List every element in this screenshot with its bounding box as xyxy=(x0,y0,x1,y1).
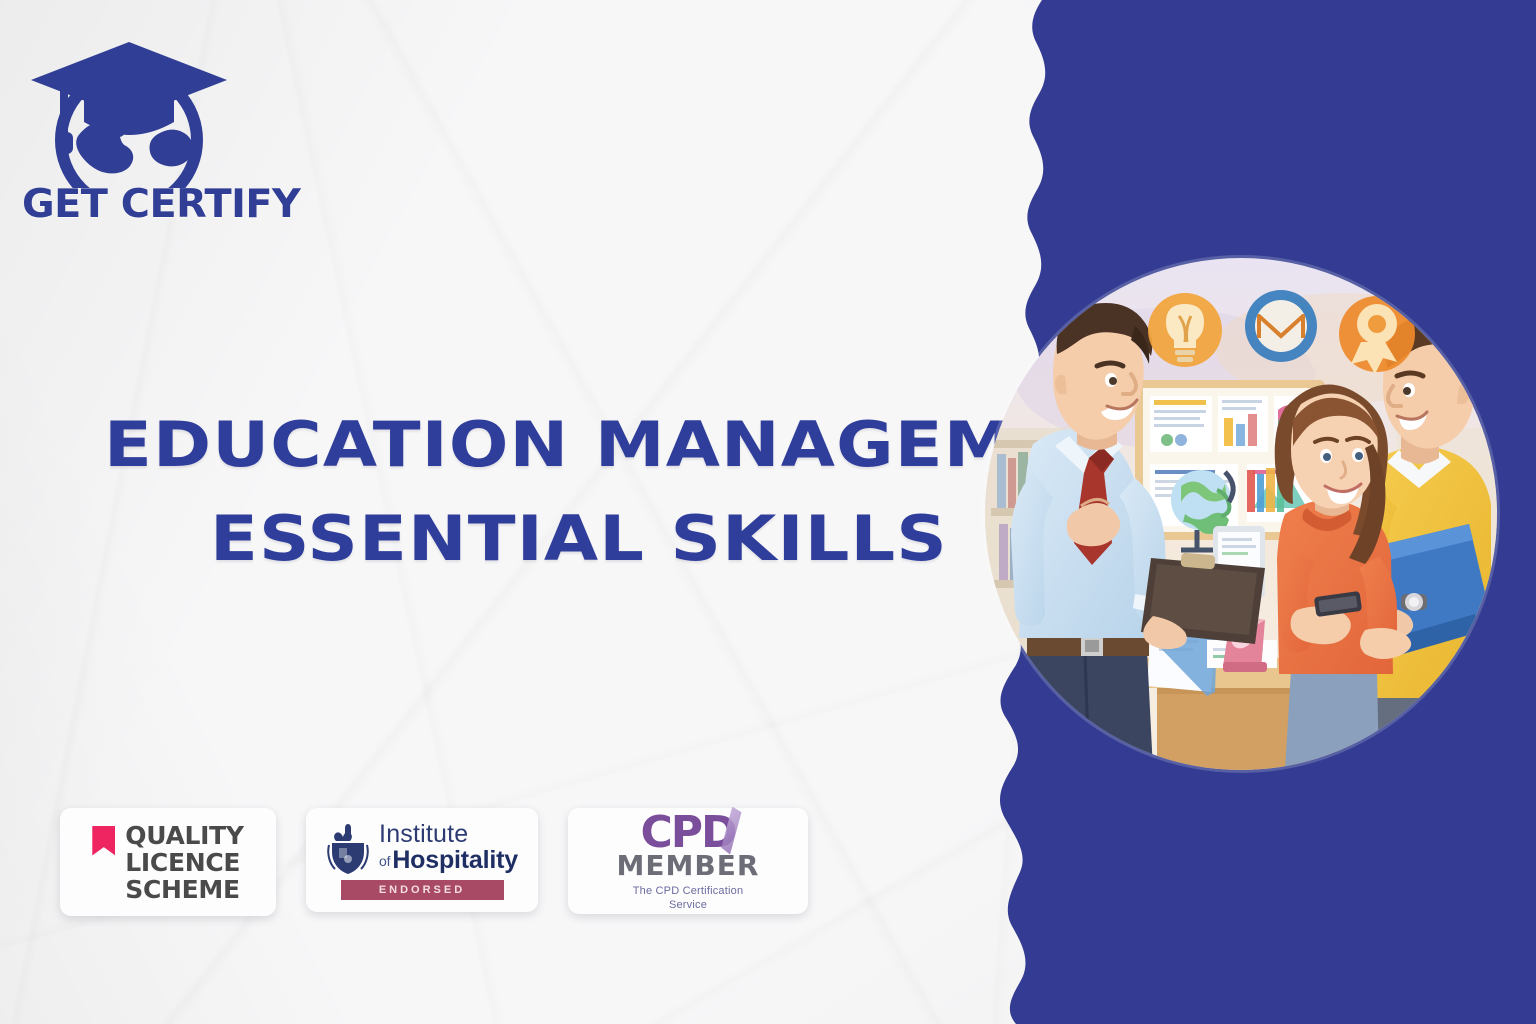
qls-line-3: SCHEME xyxy=(125,876,243,903)
qls-line-1: QUALITY xyxy=(125,822,243,849)
heraldic-crest-icon xyxy=(326,821,370,875)
accreditation-badges: QUALITY LICENCE SCHEME xyxy=(60,808,808,916)
ioh-line-2: Hospitality xyxy=(392,846,518,874)
cpd-subtitle-line-1: The CPD Certification xyxy=(633,884,744,898)
badge-institute-of-hospitality[interactable]: Institute ofHospitality ENDORSED xyxy=(306,808,538,912)
bookmark-icon xyxy=(92,826,115,856)
headline-line-2: ESSENTIAL SKILLS xyxy=(210,492,949,586)
promo-banner: GET CERTIFY EDUCATION MANAGEMENT ESSENTI… xyxy=(0,0,1536,1024)
floating-icons xyxy=(1148,290,1415,374)
badge-cpd-member[interactable]: CPD MEMBER The CPD Certification Service xyxy=(568,808,808,914)
headline: EDUCATION MANAGEMENT ESSENTIAL SKILLS xyxy=(104,398,864,586)
logo-wordmark: GET CERTIFY xyxy=(22,182,241,227)
qls-line-2: LICENCE xyxy=(125,849,243,876)
cpd-subtitle-line-2: Service xyxy=(633,898,744,912)
graduation-cap-globe-icon xyxy=(22,28,237,188)
ioh-line-1: Institute xyxy=(379,822,518,847)
ioh-of: of xyxy=(379,853,390,869)
education-meeting-illustration xyxy=(985,258,1497,770)
headline-line-1: EDUCATION MANAGEMENT xyxy=(104,398,963,492)
cpd-letters: CPD xyxy=(640,811,735,855)
ioh-endorsed-band: ENDORSED xyxy=(341,880,504,900)
badge-quality-licence-scheme[interactable]: QUALITY LICENCE SCHEME xyxy=(60,808,276,916)
get-certify-logo[interactable]: GET CERTIFY xyxy=(22,28,237,226)
